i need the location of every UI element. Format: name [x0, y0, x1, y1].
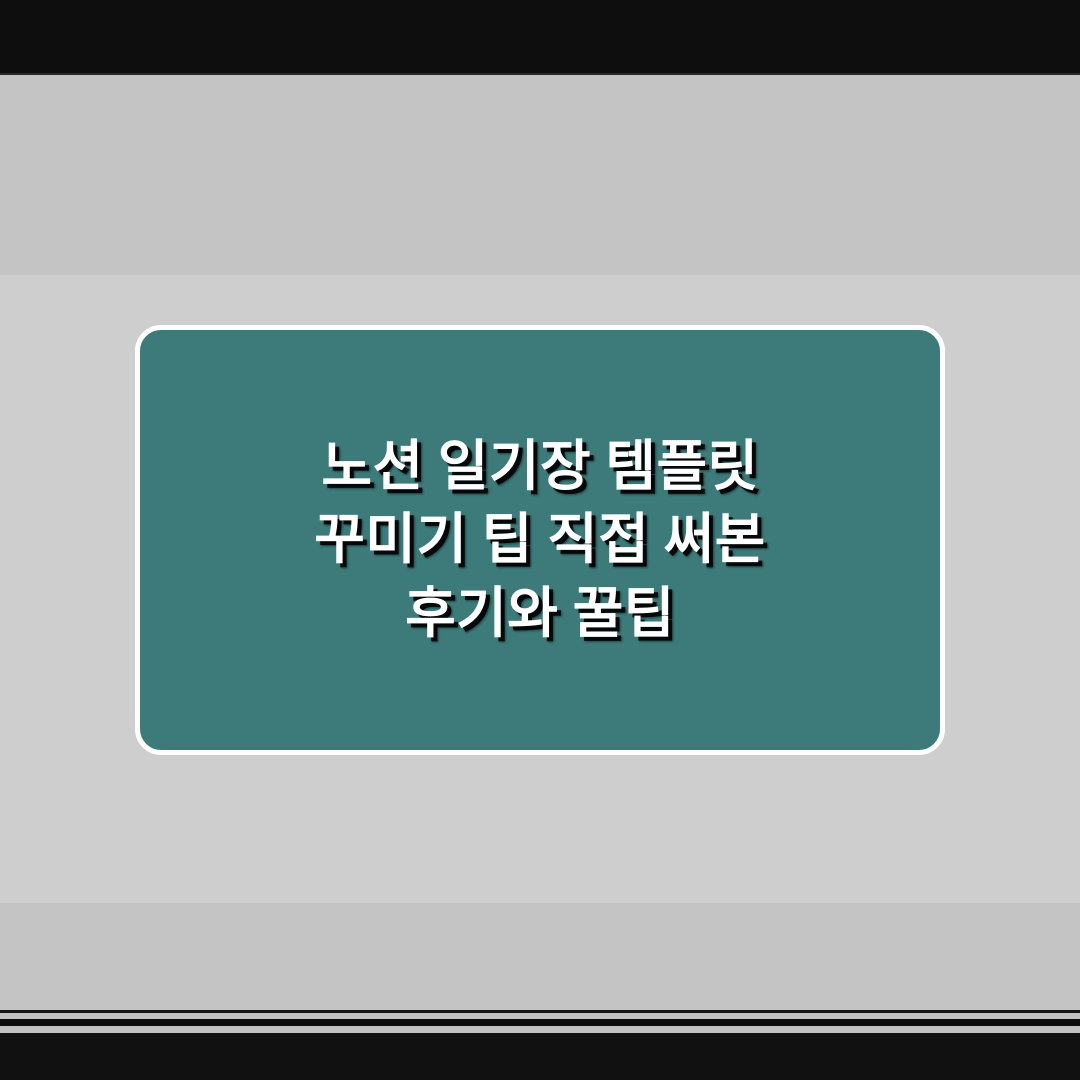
bottom-divider-band-2 [0, 1026, 1080, 1033]
background-band-lower [0, 903, 1080, 1010]
title-card: 노션 일기장 템플릿 꾸미기 팁 직접 써본 후기와 꿀팁 [135, 325, 945, 755]
screenshot-canvas: 노션 일기장 템플릿 꾸미기 팁 직접 써본 후기와 꿀팁 [0, 0, 1080, 1080]
bottom-divider-line-2 [0, 1019, 1080, 1026]
page-title: 노션 일기장 템플릿 꾸미기 팁 직접 써본 후기와 꿀팁 [220, 430, 860, 649]
letterbox-bar-top [0, 0, 1080, 73]
background-band-upper [0, 75, 1080, 275]
letterbox-bar-bottom [0, 1033, 1080, 1080]
